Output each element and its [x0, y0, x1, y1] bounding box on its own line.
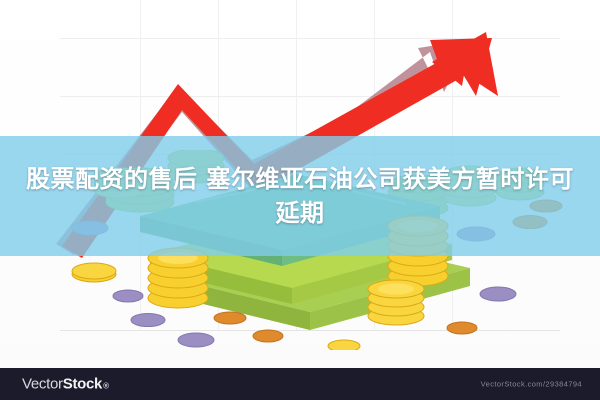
loose-coin — [178, 333, 214, 347]
loose-coin — [131, 314, 165, 327]
page-title: 股票配资的售后 塞尔维亚石油公司获美方暂时许可延期 — [0, 136, 600, 256]
loose-coin — [214, 312, 246, 324]
gold-coin-stack-left — [148, 248, 208, 308]
loose-coin — [480, 287, 516, 301]
footer-bar: VectorStock® VectorStock.com/29384794 — [0, 368, 600, 400]
vectorstock-logo[interactable]: VectorStock® — [22, 376, 109, 393]
gold-coin-stack-right-short — [368, 280, 424, 325]
loose-coin — [72, 263, 116, 282]
loose-coin — [113, 290, 143, 302]
loose-coin — [253, 330, 283, 342]
logo-suffix: Stock — [63, 376, 102, 393]
registered-mark-icon: ® — [103, 382, 109, 391]
loose-coin — [447, 322, 477, 334]
watermark-url: VectorStock.com/29384794 — [481, 380, 582, 389]
logo-prefix: Vector — [22, 376, 63, 393]
loose-coin — [328, 340, 360, 350]
illustration-canvas: 股票配资的售后 塞尔维亚石油公司获美方暂时许可延期 VectorStock® V… — [0, 0, 600, 400]
